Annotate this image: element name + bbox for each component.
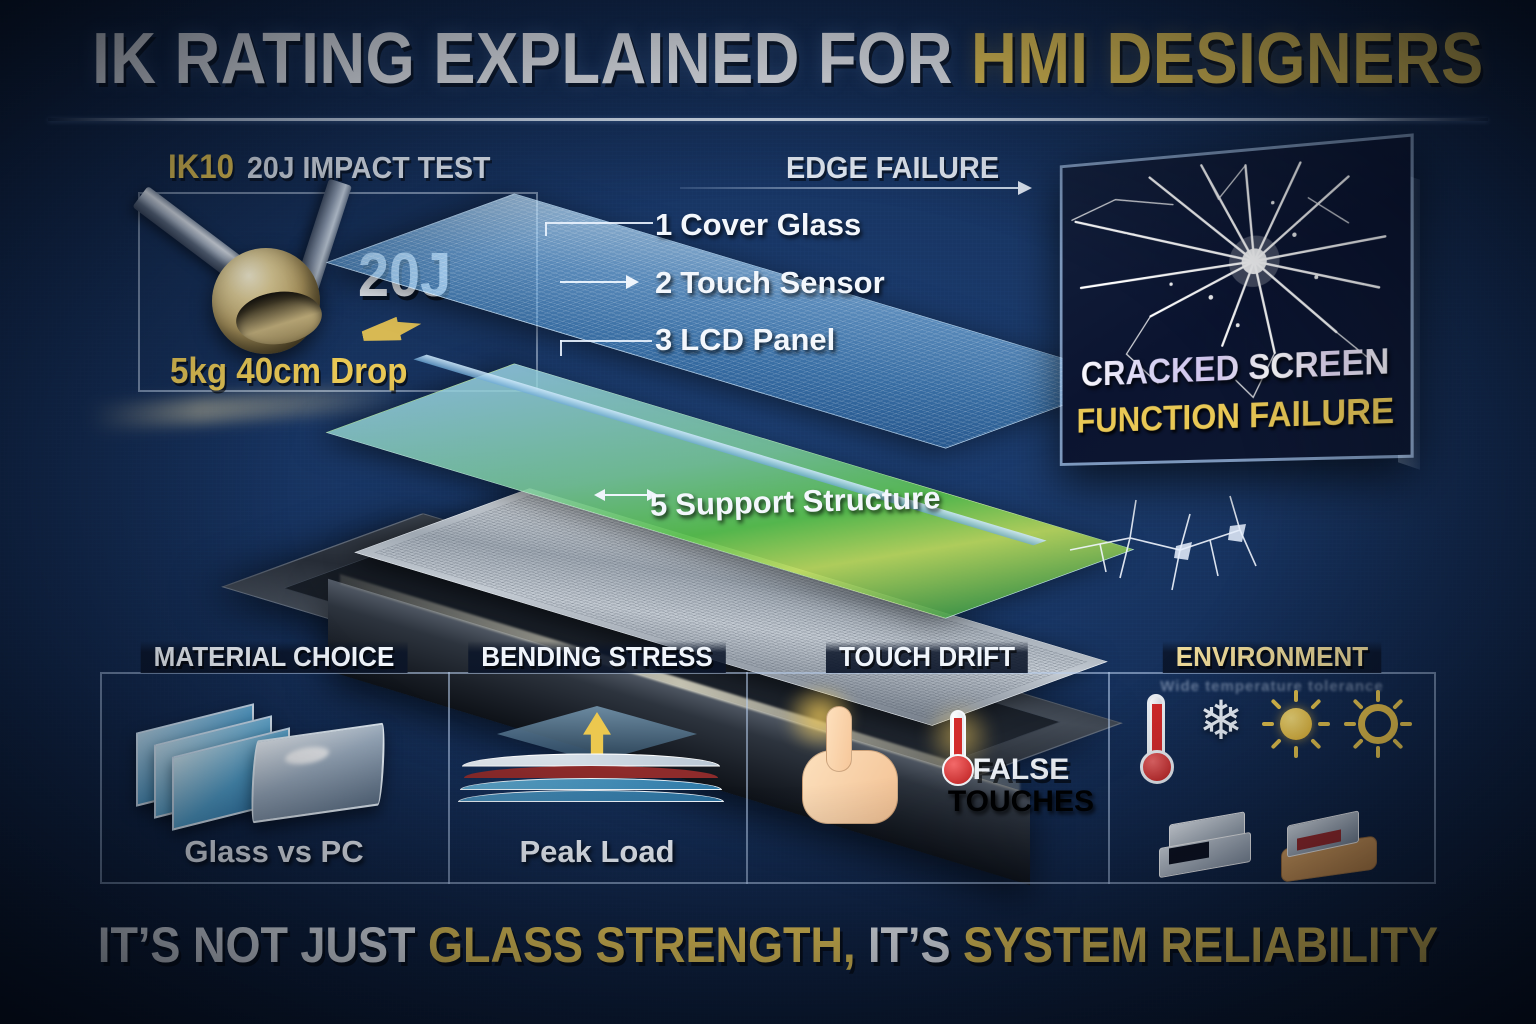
card-environment-subtext: Wide temperature tolerance [1108,678,1436,695]
card-environment-heading: ENVIRONMENT [1163,641,1381,673]
tagline-white-2: IT’S [855,917,963,973]
callout-number-1: 1 [655,207,672,242]
sun-core [1280,708,1312,740]
bent-layers-icon [448,696,746,818]
leader-line-lcd-panel [560,340,652,342]
cracked-screen-panel: CRACKED SCREEN FUNCTION FAILURE [1060,133,1414,466]
glass-sheets-icon [100,696,448,818]
callout-lcd-panel: 3LCD Panel [655,322,835,358]
callout-number-5: 5 [650,487,668,522]
false-touches-label: FALSE TOUCHES [948,754,1094,817]
callout-label-1: Cover Glass [680,207,861,242]
leader-double-arrow-support [597,494,655,496]
card-material-choice-caption: Glass vs PC [100,834,448,870]
pointing-hand-icon [792,706,912,824]
card-environment[interactable]: ENVIRONMENT Wide temperature tolerance ❄ [1108,672,1436,884]
callout-number-3: 3 [655,322,672,357]
sun-outline-icon [1348,694,1408,754]
title-part-white: IK RATING EXPLAINED FOR [92,19,971,99]
bend-layer-3 [460,778,722,790]
callout-cover-glass: 1Cover Glass [655,207,861,243]
card-bending-stress[interactable]: BENDING STRESS Peak Load [448,672,746,884]
pc-sheet-gloss [285,744,330,766]
ik10-badge: IK10 [168,148,234,186]
snowflake-icon: ❄ [1198,694,1243,748]
bend-layer-2 [464,766,718,778]
env-thermometer-bulb [1140,750,1174,784]
card-touch-drift-heading: TOUCH DRIFT [826,641,1028,673]
title-divider [48,118,1488,121]
callout-label-5: Support Structure [675,480,941,522]
false-touches-line2: TOUCHES [948,785,1094,818]
leader-line-cover-glass [545,222,653,224]
bend-layer-1 [462,753,720,766]
leader-arrow-touch-sensor [560,281,636,283]
tagline-white-1: IT’S NOT JUST [98,917,428,973]
card-bending-stress-heading: BENDING STRESS [468,641,726,673]
sun-icon [1266,694,1326,754]
environment-device-icons [1108,818,1436,878]
touch-drift-art: FALSE TOUCHES [746,696,1108,846]
infographic-root: IK RATING EXPLAINED FOR HMI DESIGNERS IK… [0,0,1536,1024]
title-part-gold: HMI DESIGNERS [971,19,1484,99]
weather-icons: ❄ [1108,694,1436,786]
env-thermometer-icon [1136,694,1176,786]
callout-touch-sensor: 2Touch Sensor [655,265,885,301]
callout-number-2: 2 [655,265,672,300]
bottom-tagline: IT’S NOT JUST GLASS STRENGTH, IT’S SYSTE… [77,916,1459,974]
card-material-choice-heading: MATERIAL CHOICE [141,641,408,673]
sun-outline-ring [1358,704,1398,744]
page-title: IK RATING EXPLAINED FOR HMI DESIGNERS [92,18,1444,100]
tagline-gold-2: SYSTEM RELIABILITY [963,917,1438,973]
card-bending-stress-caption: Peak Load [448,834,746,870]
card-touch-drift[interactable]: TOUCH DRIFT FALSE TOUCHES [746,672,1108,884]
handheld-device-icon [1281,818,1385,878]
leader-tick-lcd-panel [560,340,562,356]
card-material-choice[interactable]: MATERIAL CHOICE Glass vs PC [100,672,448,884]
stacked-device-icon [1159,818,1255,874]
exploded-display-stack [300,180,1160,660]
leader-tick-cover-glass [545,222,547,236]
callout-label-2: Touch Sensor [680,265,884,300]
callout-support-structure: 5Support Structure [650,480,941,524]
false-touches-line1: FALSE [973,753,1070,786]
bend-layer-4 [458,790,724,802]
tagline-gold-1: GLASS STRENGTH, [428,917,856,973]
factor-cards: MATERIAL CHOICE Glass vs PC BENDING STRE… [100,672,1436,884]
hand-finger [826,706,852,772]
callout-label-3: LCD Panel [680,322,835,357]
